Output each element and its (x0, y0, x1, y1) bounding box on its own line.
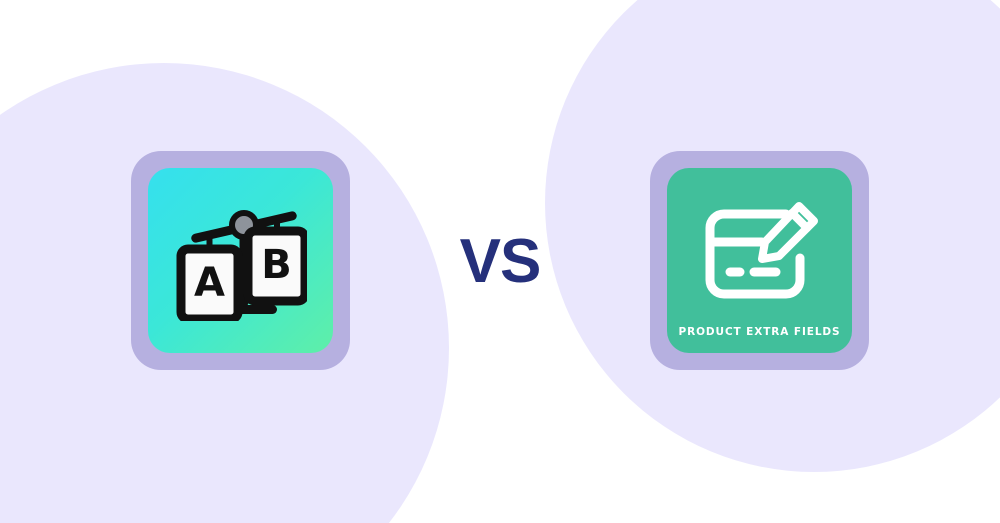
left-app-tile[interactable]: A B (131, 151, 350, 370)
card-edit-pencil-icon (700, 202, 820, 306)
comparison-banner: A B VS (0, 0, 1000, 523)
svg-text:B: B (261, 242, 292, 288)
right-app-icon-surface: PRODUCT EXTRA FIELDS (667, 168, 852, 353)
ab-testing-balance-scale-icon: A B (175, 201, 307, 321)
vs-text: VS (460, 231, 541, 293)
left-app-icon-surface: A B (148, 168, 333, 353)
right-app-caption: PRODUCT EXTRA FIELDS (667, 326, 852, 338)
right-app-tile[interactable]: PRODUCT EXTRA FIELDS (650, 151, 869, 370)
svg-text:A: A (194, 260, 225, 306)
